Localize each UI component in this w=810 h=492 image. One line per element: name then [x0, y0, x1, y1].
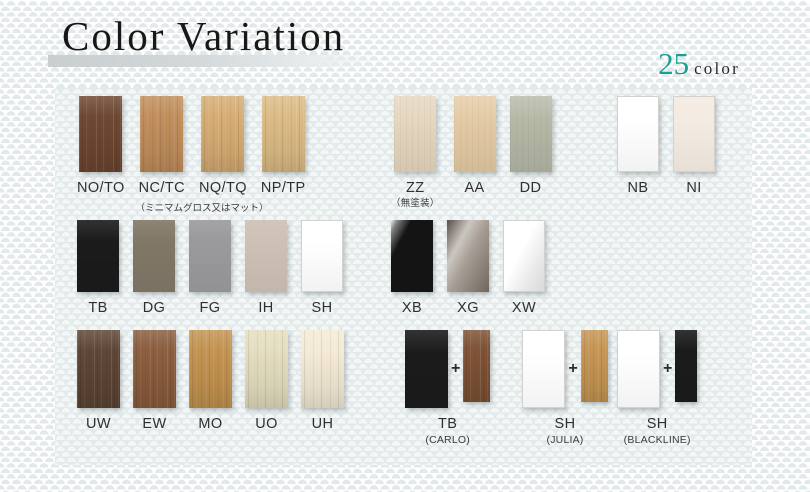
plus-icon: + — [451, 361, 460, 377]
swatch-label: DD — [520, 181, 542, 197]
swatch-cell-mo[interactable]: MO — [189, 330, 232, 433]
swatch-label: NP/TP — [261, 181, 306, 197]
swatch-cell-dd[interactable]: DD — [510, 96, 552, 197]
color-swatch-panel: NO/TONC/TCNQ/TQNP/TP（ミニマムグロス又はマット）ZZ（無塗装… — [55, 88, 752, 465]
swatch-label: XG — [457, 301, 479, 317]
swatch-chips — [245, 330, 288, 408]
swatch-chip-wood-cream[interactable] — [301, 330, 344, 408]
color-count-number: 25 — [658, 48, 689, 79]
swatch-chips — [510, 96, 552, 172]
swatch-chip-plain-sage-grey[interactable] — [510, 96, 552, 172]
swatch-chips — [454, 96, 496, 172]
swatch-cell-tb[interactable]: +TB(CARLO) — [405, 330, 490, 446]
swatch-chips — [394, 96, 436, 172]
swatch-cell-sh[interactable]: SH — [301, 220, 343, 317]
swatch-label: TB — [438, 417, 457, 433]
swatch-chips — [189, 330, 232, 408]
swatch-chips — [262, 96, 305, 172]
swatch-chip-plain-natural-birch[interactable] — [454, 96, 496, 172]
swatch-sublabel: （無塗装） — [391, 199, 440, 209]
swatch-chip-wood-pale-birch[interactable] — [245, 330, 288, 408]
swatch-cell-xw[interactable]: XW — [503, 220, 545, 317]
swatch-row: UWEWMOUOUH+TB(CARLO)+SH(JULIA)+SH(BLACKL… — [55, 330, 752, 462]
swatch-chip-matte-white[interactable] — [301, 220, 343, 292]
swatch-group: UWEWMOUOUH — [77, 330, 344, 433]
swatch-cell-sh[interactable]: +SH(BLACKLINE) — [617, 330, 697, 446]
swatch-label: UO — [255, 417, 278, 433]
swatch-chip-gloss-bronze[interactable] — [447, 220, 489, 292]
swatch-chip-wood-pale-ash[interactable] — [262, 96, 305, 172]
swatch-group: NBNI — [617, 96, 715, 197]
swatch-cell-nq-tq[interactable]: NQ/TQ — [199, 96, 247, 197]
swatch-cell-zz[interactable]: ZZ（無塗装） — [391, 96, 440, 209]
plus-icon: + — [568, 361, 577, 377]
swatch-label: EW — [142, 417, 166, 433]
swatch-chips — [301, 330, 344, 408]
swatch-label: SH — [555, 417, 576, 433]
swatch-chips — [447, 220, 489, 292]
swatch-label: NC/TC — [139, 181, 185, 197]
swatch-chip-plain-unfinished[interactable] — [394, 96, 436, 172]
swatch-row: TBDGFGIHSHXBXGXW — [55, 220, 752, 330]
swatch-label: NB — [628, 181, 649, 197]
swatch-cell-xb[interactable]: XB — [391, 220, 433, 317]
swatch-label: DG — [143, 301, 166, 317]
swatch-group: +TB(CARLO)+SH(JULIA) — [405, 330, 608, 446]
swatch-chip-combo-black-panel[interactable] — [405, 330, 448, 408]
page-header: Color Variation 25 color — [0, 0, 810, 88]
swatch-sublabel: (JULIA) — [547, 435, 584, 447]
swatch-chips — [391, 220, 433, 292]
swatch-label: IH — [258, 301, 273, 317]
swatch-chip-matte-dark-taupe[interactable] — [133, 220, 175, 292]
swatch-chips — [189, 220, 231, 292]
color-count-unit: color — [694, 60, 740, 77]
swatch-label: MO — [198, 417, 222, 433]
swatch-chips — [245, 220, 287, 292]
swatch-chip-combo-white-panel[interactable] — [522, 330, 565, 408]
swatch-label: XW — [512, 301, 536, 317]
swatch-cell-no-to[interactable]: NO/TO — [77, 96, 125, 197]
swatch-chip-matte-cool-grey[interactable] — [189, 220, 231, 292]
swatch-label: ZZ — [406, 181, 425, 197]
swatch-label: UW — [86, 417, 111, 433]
swatch-group: XBXGXW — [391, 220, 545, 317]
swatch-chip-combo-black-strip[interactable] — [675, 330, 697, 402]
swatch-chip-wood-chestnut[interactable] — [133, 330, 176, 408]
swatch-cell-xg[interactable]: XG — [447, 220, 489, 317]
swatch-chips — [301, 220, 343, 292]
swatch-chips: + — [405, 330, 490, 408]
swatch-cell-nc-tc[interactable]: NC/TC — [139, 96, 185, 197]
swatch-chips — [617, 96, 659, 172]
swatch-chip-combo-oak-strip[interactable] — [581, 330, 608, 402]
swatch-cell-uw[interactable]: UW — [77, 330, 120, 433]
swatch-chips — [77, 330, 120, 408]
swatch-label: FG — [200, 301, 221, 317]
swatch-cell-aa[interactable]: AA — [454, 96, 496, 197]
swatch-chip-gloss-white[interactable] — [503, 220, 545, 292]
swatch-chips — [79, 96, 122, 172]
swatch-group: TBDGFGIHSH — [77, 220, 343, 317]
swatch-group: NO/TONC/TCNQ/TQNP/TP — [77, 96, 306, 197]
swatch-chip-matte-black[interactable] — [77, 220, 119, 292]
color-count: 25 color — [658, 48, 740, 79]
swatch-chips: + — [522, 330, 607, 408]
swatch-label: AA — [464, 181, 484, 197]
swatch-label: NQ/TQ — [199, 181, 247, 197]
swatch-chip-wood-honey-oak[interactable] — [189, 330, 232, 408]
swatch-cell-fg[interactable]: FG — [189, 220, 231, 317]
swatch-cell-tb[interactable]: TB — [77, 220, 119, 317]
swatch-chips — [673, 96, 715, 172]
swatch-chip-combo-walnut-strip[interactable] — [463, 330, 490, 402]
swatch-group-caption: （ミニマムグロス又はマット） — [77, 200, 327, 214]
swatch-chips — [201, 96, 244, 172]
swatch-cell-ih[interactable]: IH — [245, 220, 287, 317]
swatch-cell-dg[interactable]: DG — [133, 220, 175, 317]
swatch-chips — [77, 220, 119, 292]
swatch-cell-ew[interactable]: EW — [133, 330, 176, 433]
swatch-group: +SH(BLACKLINE) — [617, 330, 697, 446]
swatch-cell-nb[interactable]: NB — [617, 96, 659, 197]
swatch-label: TB — [88, 301, 107, 317]
swatch-chip-matte-warm-beige[interactable] — [245, 220, 287, 292]
swatch-group: ZZ（無塗装）AADD — [391, 96, 552, 209]
page-title: Color Variation — [62, 16, 345, 57]
swatch-chip-wood-dark-brown[interactable] — [77, 330, 120, 408]
swatch-label: NI — [686, 181, 701, 197]
plus-icon: + — [663, 361, 672, 377]
swatch-chip-plain-ivory[interactable] — [673, 96, 715, 172]
swatch-chips — [140, 96, 183, 172]
swatch-label: SH — [647, 417, 668, 433]
swatch-chip-combo-white-panel[interactable] — [617, 330, 660, 408]
swatch-label: SH — [312, 301, 333, 317]
swatch-chips — [133, 330, 176, 408]
swatch-chip-wood-medium-oak[interactable] — [140, 96, 183, 172]
swatch-chip-gloss-black[interactable] — [391, 220, 433, 292]
swatch-chip-wood-light-maple[interactable] — [201, 96, 244, 172]
swatch-chip-wood-dark-walnut[interactable] — [79, 96, 122, 172]
swatch-chips — [133, 220, 175, 292]
swatch-cell-ni[interactable]: NI — [673, 96, 715, 197]
swatch-chip-plain-pure-white[interactable] — [617, 96, 659, 172]
swatch-cell-np-tp[interactable]: NP/TP — [261, 96, 306, 197]
swatch-label: XB — [402, 301, 422, 317]
swatch-sublabel: (CARLO) — [425, 435, 470, 447]
swatch-cell-uo[interactable]: UO — [245, 330, 288, 433]
swatch-row: NO/TONC/TCNQ/TQNP/TP（ミニマムグロス又はマット）ZZ（無塗装… — [55, 96, 752, 220]
swatch-chips: + — [617, 330, 697, 408]
swatch-cell-sh[interactable]: +SH(JULIA) — [522, 330, 607, 446]
swatch-sublabel: (BLACKLINE) — [624, 435, 691, 447]
swatch-chips — [503, 220, 545, 292]
swatch-cell-uh[interactable]: UH — [301, 330, 344, 433]
swatch-label: NO/TO — [77, 181, 125, 197]
swatch-label: UH — [312, 417, 334, 433]
